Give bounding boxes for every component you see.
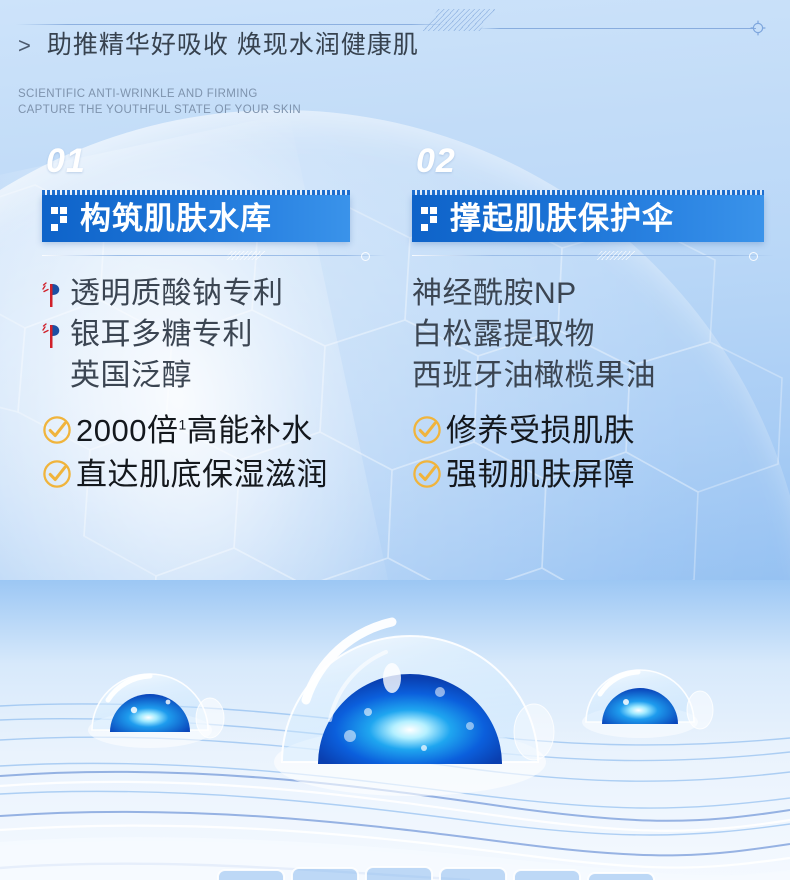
section-number: 01 — [46, 144, 410, 178]
list-item: 银耳多糖专利 — [42, 314, 410, 355]
underline-hatch-icon — [224, 251, 265, 260]
product-detail-page: > 助推精华好吸收 焕现水润健康肌 SCIENTIFIC ANTI-WRINKL… — [0, 0, 790, 880]
ingredient-label: 英国泛醇 — [70, 361, 192, 391]
header-rule-right — [478, 28, 756, 29]
banner-underline-decoration — [412, 251, 774, 261]
list-item: 白松露提取物 — [412, 314, 780, 355]
subtitle-line-1: SCIENTIFIC ANTI-WRINKLE AND FIRMING — [18, 86, 301, 102]
ingredient-label: 神经酰胺NP — [412, 279, 577, 309]
header-rule-left — [16, 24, 446, 25]
ingredient-label: 西班牙油橄榄果油 — [412, 361, 656, 391]
underline-rule — [42, 255, 386, 256]
list-item: 神经酰胺NP — [412, 273, 780, 314]
list-item: 西班牙油橄榄果油 — [412, 355, 780, 396]
check-circle-icon — [42, 459, 72, 489]
banner-title: 撑起肌肤保护伞 — [450, 203, 674, 234]
subtitle-line-2: CAPTURE THE YOUTHFUL STATE OF YOUR SKIN — [18, 102, 301, 118]
subtitle-english: SCIENTIFIC ANTI-WRINKLE AND FIRMING CAPT… — [18, 86, 301, 118]
banner-bar: 构筑肌肤水库 — [42, 195, 350, 242]
list-item: 强韧肌肤屏障 — [412, 452, 780, 496]
underline-dot-icon — [361, 252, 370, 261]
banner-squares-icon — [421, 207, 441, 231]
benefit-label: 2000倍1高能补水 — [76, 415, 313, 446]
section-banner: 构筑肌肤水库 — [42, 190, 350, 261]
benefit-list: 2000倍1高能补水 直达肌底保湿滋润 — [42, 408, 410, 496]
section-banner: 撑起肌肤保护伞 — [412, 190, 764, 261]
breadcrumb: > 助推精华好吸收 焕现水润健康肌 — [18, 33, 419, 58]
page-title: 助推精华好吸收 焕现水润健康肌 — [47, 33, 419, 58]
feature-section-02: 02 撑起肌肤保护伞 神经酰胺NP 白松露提取物 西班牙油橄榄果油 — [412, 144, 780, 496]
ingredient-label: 白松露提取物 — [412, 320, 595, 350]
check-circle-icon — [412, 415, 442, 445]
ingredient-label: 银耳多糖专利 — [70, 320, 253, 350]
ingredient-label: 透明质酸钠专利 — [70, 279, 284, 309]
check-circle-icon — [42, 415, 72, 445]
benefit-label: 强韧肌肤屏障 — [446, 459, 635, 490]
banner-title: 构筑肌肤水库 — [80, 203, 272, 234]
patent-p-icon — [42, 280, 68, 310]
list-item: 2000倍1高能补水 — [42, 408, 410, 452]
ingredient-list: 神经酰胺NP 白松露提取物 西班牙油橄榄果油 — [412, 273, 780, 396]
feature-section-01: 01 构筑肌肤水库 透明质酸钠专利 — [42, 144, 410, 496]
banner-underline-decoration — [42, 251, 386, 261]
benefit-label: 直达肌底保湿滋润 — [76, 459, 328, 490]
banner-squares-icon — [51, 207, 71, 231]
list-item: 直达肌底保湿滋润 — [42, 452, 410, 496]
list-item: 英国泛醇 — [42, 355, 410, 396]
benefit-list: 修养受损肌肤 强韧肌肤屏障 — [412, 408, 780, 496]
water-droplet-illustration — [0, 580, 790, 880]
header-node-circle-icon — [750, 20, 766, 36]
patent-p-icon — [42, 321, 68, 351]
list-item: 修养受损肌肤 — [412, 408, 780, 452]
banner-bar: 撑起肌肤保护伞 — [412, 195, 764, 242]
ingredient-list: 透明质酸钠专利 银耳多糖专利 英国泛醇 — [42, 273, 410, 396]
underline-rule — [412, 255, 774, 256]
chevron-right-icon: > — [18, 35, 31, 57]
check-circle-icon — [412, 459, 442, 489]
section-number: 02 — [416, 144, 780, 178]
benefit-label: 修养受损肌肤 — [446, 415, 635, 446]
list-item: 透明质酸钠专利 — [42, 273, 410, 314]
underline-dot-icon — [749, 252, 758, 261]
underline-hatch-icon — [594, 251, 635, 260]
